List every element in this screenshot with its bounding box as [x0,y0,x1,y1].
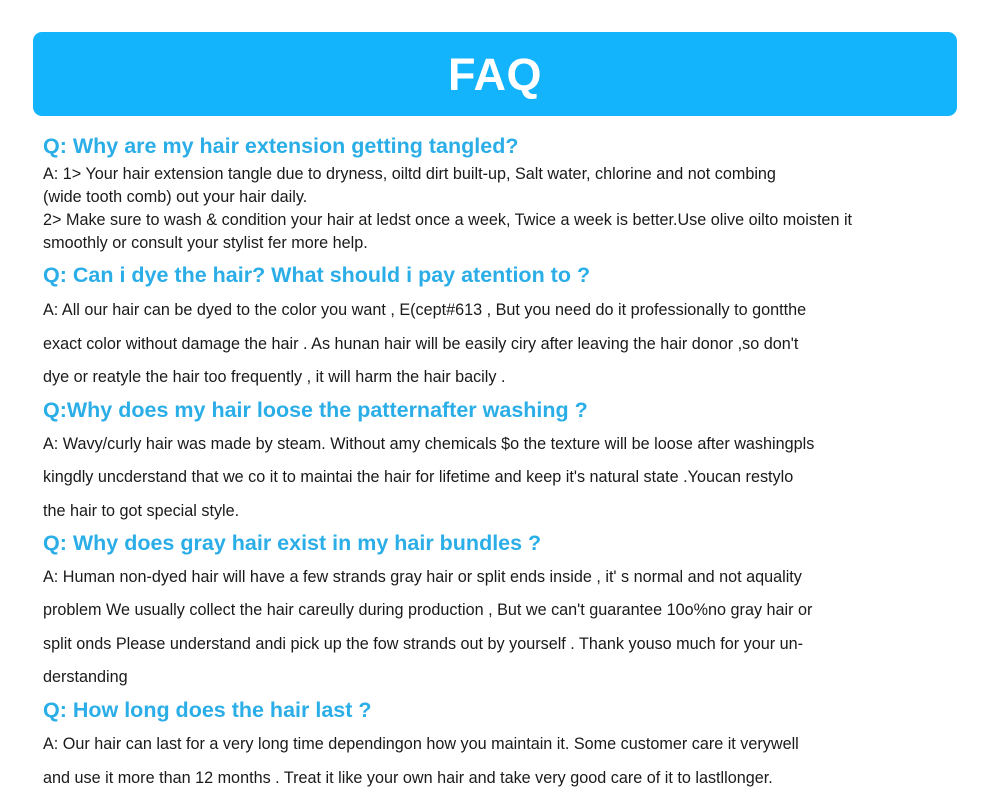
faq-answer-line: and use it more than 12 months . Treat i… [43,762,963,796]
faq-answer: A: Our hair can last for a very long tim… [43,728,963,795]
faq-answer-line: A: Human non-dyed hair will have a few s… [43,561,963,595]
faq-answer-line: A: 1> Your hair extension tangle due to … [43,163,963,186]
faq-question: Q: Can i dye the hair? What should i pay… [43,262,963,289]
faq-answer-line: A: All our hair can be dyed to the color… [43,294,963,328]
faq-answer: A: Human non-dyed hair will have a few s… [43,561,963,695]
faq-list: Q: Why are my hair extension getting tan… [43,133,963,795]
faq-answer: A: All our hair can be dyed to the color… [43,294,963,395]
faq-page: FAQ Q: Why are my hair extension getting… [0,0,1000,812]
faq-answer-line: split onds Please understand andi pick u… [43,628,963,662]
faq-question: Q: How long does the hair last ? [43,697,963,724]
faq-answer-line: smoothly or consult your stylist fer mor… [43,232,963,255]
faq-question: Q: Why does gray hair exist in my hair b… [43,530,963,557]
faq-answer-line: derstanding [43,661,963,695]
faq-answer-line: dye or reatyle the hair too frequently ,… [43,361,963,395]
faq-item: Q: Why are my hair extension getting tan… [43,133,963,255]
faq-answer: A: 1> Your hair extension tangle due to … [43,163,963,255]
faq-item: Q: Can i dye the hair? What should i pay… [43,262,963,395]
faq-answer-line: the hair to got special style. [43,495,963,529]
faq-answer-line: kingdly uncderstand that we co it to mai… [43,461,963,495]
faq-answer-line: A: Our hair can last for a very long tim… [43,728,963,762]
faq-answer-line: 2> Make sure to wash & condition your ha… [43,209,963,232]
faq-item: Q: Why does gray hair exist in my hair b… [43,530,963,695]
faq-answer: A: Wavy/curly hair was made by steam. Wi… [43,428,963,529]
faq-answer-line: problem We usually collect the hair care… [43,594,963,628]
faq-item: Q:Why does my hair loose the patternafte… [43,397,963,529]
faq-banner: FAQ [33,32,957,116]
faq-banner-title: FAQ [448,52,542,97]
faq-answer-line: A: Wavy/curly hair was made by steam. Wi… [43,428,963,462]
faq-answer-line: exact color without damage the hair . As… [43,328,963,362]
faq-item: Q: How long does the hair last ? A: Our … [43,697,963,795]
faq-question: Q:Why does my hair loose the patternafte… [43,397,963,424]
faq-question: Q: Why are my hair extension getting tan… [43,133,963,160]
faq-answer-line: (wide tooth comb) out your hair daily. [43,186,963,209]
